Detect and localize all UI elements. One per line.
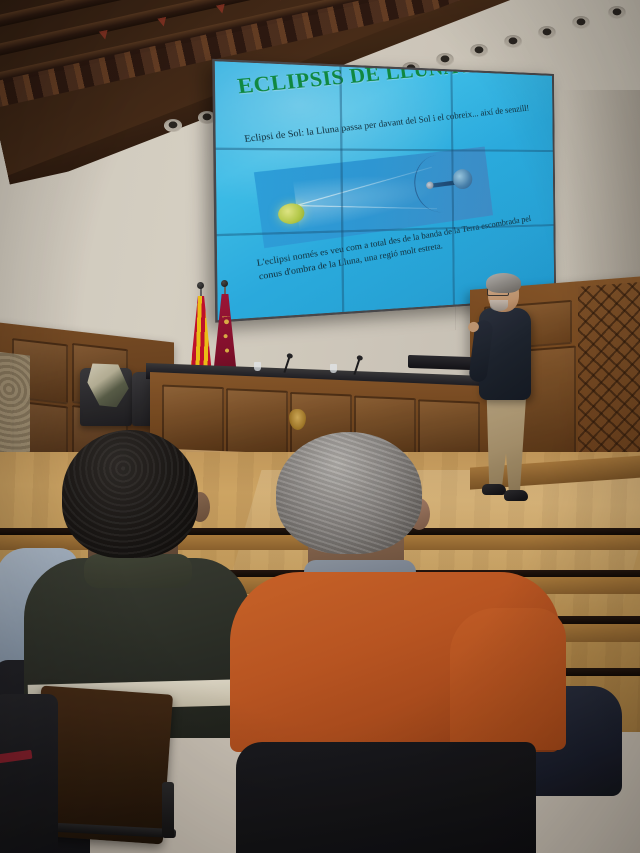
flag-emblem bbox=[222, 316, 231, 364]
ceiling-spotlight bbox=[470, 44, 488, 57]
ceiling-spotlight bbox=[538, 26, 556, 39]
flag-finial bbox=[221, 280, 228, 287]
laptop-on-desk bbox=[408, 355, 472, 370]
foreground-seat-shadow bbox=[236, 742, 536, 853]
ceiling-spotlight bbox=[504, 35, 522, 48]
flag-finial bbox=[197, 282, 204, 289]
ceiling-spotlight bbox=[608, 6, 626, 19]
ceiling-ornament bbox=[275, 0, 286, 1]
attendee-collar bbox=[84, 554, 192, 588]
water-glass bbox=[254, 362, 261, 371]
attendee-orange-sweater bbox=[236, 432, 566, 742]
ceiling-spotlight bbox=[164, 119, 182, 132]
ceiling-spotlight bbox=[436, 53, 454, 66]
presenter-beard bbox=[490, 300, 508, 311]
light-cone bbox=[293, 166, 434, 229]
water-glass bbox=[330, 364, 337, 373]
attendee-hair-texture bbox=[276, 432, 422, 554]
ceiling-spotlight bbox=[572, 16, 590, 29]
attendee-arm bbox=[450, 608, 566, 750]
seat-frame bbox=[162, 782, 174, 838]
photo-scene: ECLIPSIS DE LLUNA I DE SOL Eclipsi de So… bbox=[0, 0, 640, 853]
attendee-hair-texture bbox=[62, 430, 198, 558]
bag bbox=[0, 694, 58, 853]
attendee-dark-sweater bbox=[14, 430, 254, 730]
presenter-hair bbox=[486, 273, 521, 293]
